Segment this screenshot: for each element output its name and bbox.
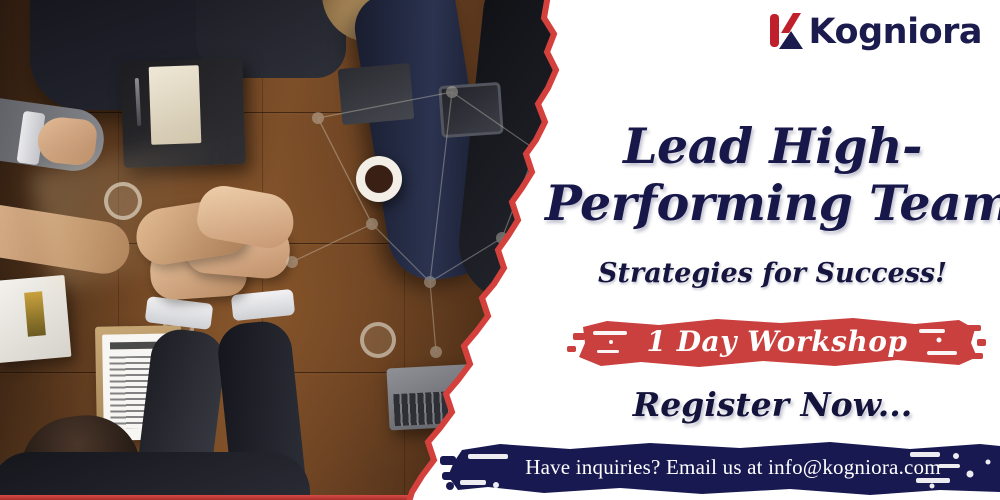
contact-email-text[interactable]: Have inquiries? Email us at info@kognior… — [440, 440, 1000, 496]
workshop-badge-label: 1 Day Workshop — [567, 313, 987, 371]
headline-subtitle: Strategies for Success! — [545, 258, 1000, 289]
cta-register[interactable]: Register Now... — [545, 385, 1000, 424]
coffee-cup — [356, 156, 402, 202]
headline-block: Lead High- Performing Teams — [545, 118, 1000, 232]
magazine-photo — [24, 291, 46, 336]
person-suit-bottom — [0, 452, 310, 500]
notepad — [149, 65, 202, 145]
brand-name: Kogniora — [809, 15, 982, 50]
workshop-badge: 1 Day Workshop — [567, 313, 987, 371]
contact-footer: Have inquiries? Email us at info@kognior… — [440, 440, 1000, 496]
shirt-cuff — [231, 289, 295, 321]
headline-line-1: Lead High- — [545, 118, 1000, 174]
promo-banner: Kogniora Lead High- Performing Teams Str… — [0, 0, 1000, 500]
headline-line-2: Performing Teams — [545, 174, 1000, 232]
brand-logo[interactable]: Kogniora — [767, 8, 982, 56]
k-monogram-icon — [767, 11, 807, 53]
water-glass — [360, 322, 396, 358]
content-panel: Kogniora Lead High- Performing Teams Str… — [545, 0, 1000, 500]
